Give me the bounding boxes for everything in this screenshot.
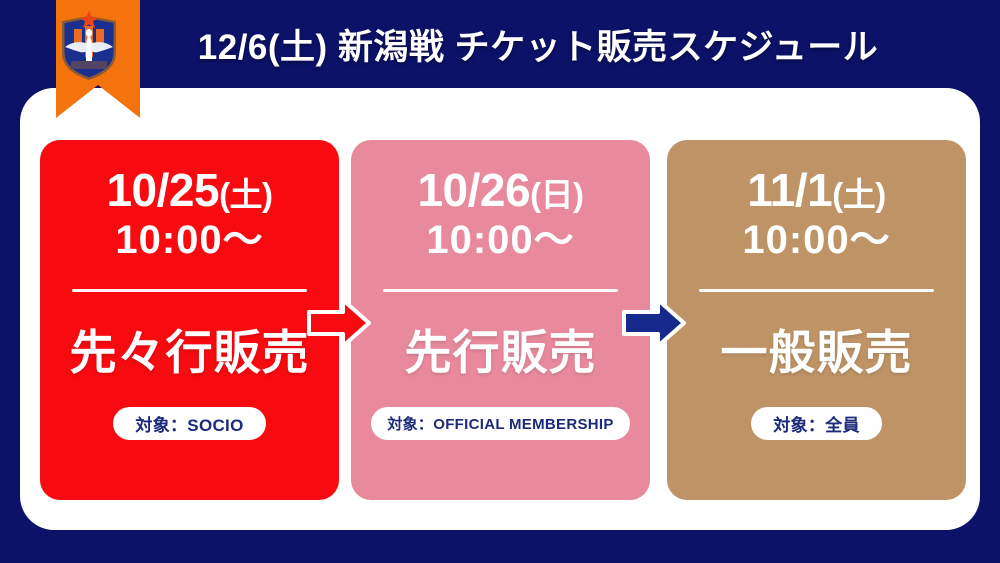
card-date: 11/1(土): [747, 166, 885, 216]
card-audience-badge: 対象：OFFICIAL MEMBERSHIP: [371, 407, 629, 440]
card-sale-label: 先々行販売: [70, 314, 310, 383]
page-title: 12/6(土) 新潟戦 チケット販売スケジュール: [138, 0, 938, 88]
card-time: 10:00〜: [742, 218, 890, 262]
arrow-right-red-icon: [307, 297, 371, 349]
schedule-card-3[interactable]: 11/1(土) 10:00〜 一般販売 対象：全員: [667, 140, 966, 500]
ticket-schedule-graphic: 12/6(土) 新潟戦 チケット販売スケジュール 10/25(土) 10:00〜…: [0, 0, 1000, 563]
card-audience-badge: 対象：全員: [751, 407, 882, 440]
card-time: 10:00〜: [426, 218, 574, 262]
card-divider: [699, 289, 934, 292]
card-divider: [72, 289, 307, 292]
card-sale-label: 一般販売: [721, 314, 913, 383]
card-divider: [383, 289, 618, 292]
schedule-cards: 10/25(土) 10:00〜 先々行販売 対象：SOCIO 10/26(日) …: [40, 140, 960, 500]
card-date: 10/26(日): [417, 166, 583, 216]
albirex-niigata-crest-icon: [58, 9, 120, 83]
card-audience-badge: 対象：SOCIO: [113, 407, 265, 440]
schedule-card-1[interactable]: 10/25(土) 10:00〜 先々行販売 対象：SOCIO: [40, 140, 339, 500]
arrow-right-navy-icon: [622, 297, 686, 349]
card-sale-label: 先行販売: [405, 314, 597, 383]
card-time: 10:00〜: [115, 218, 263, 262]
card-date: 10/25(土): [106, 166, 272, 216]
schedule-card-2[interactable]: 10/26(日) 10:00〜 先行販売 対象：OFFICIAL MEMBERS…: [351, 140, 650, 500]
